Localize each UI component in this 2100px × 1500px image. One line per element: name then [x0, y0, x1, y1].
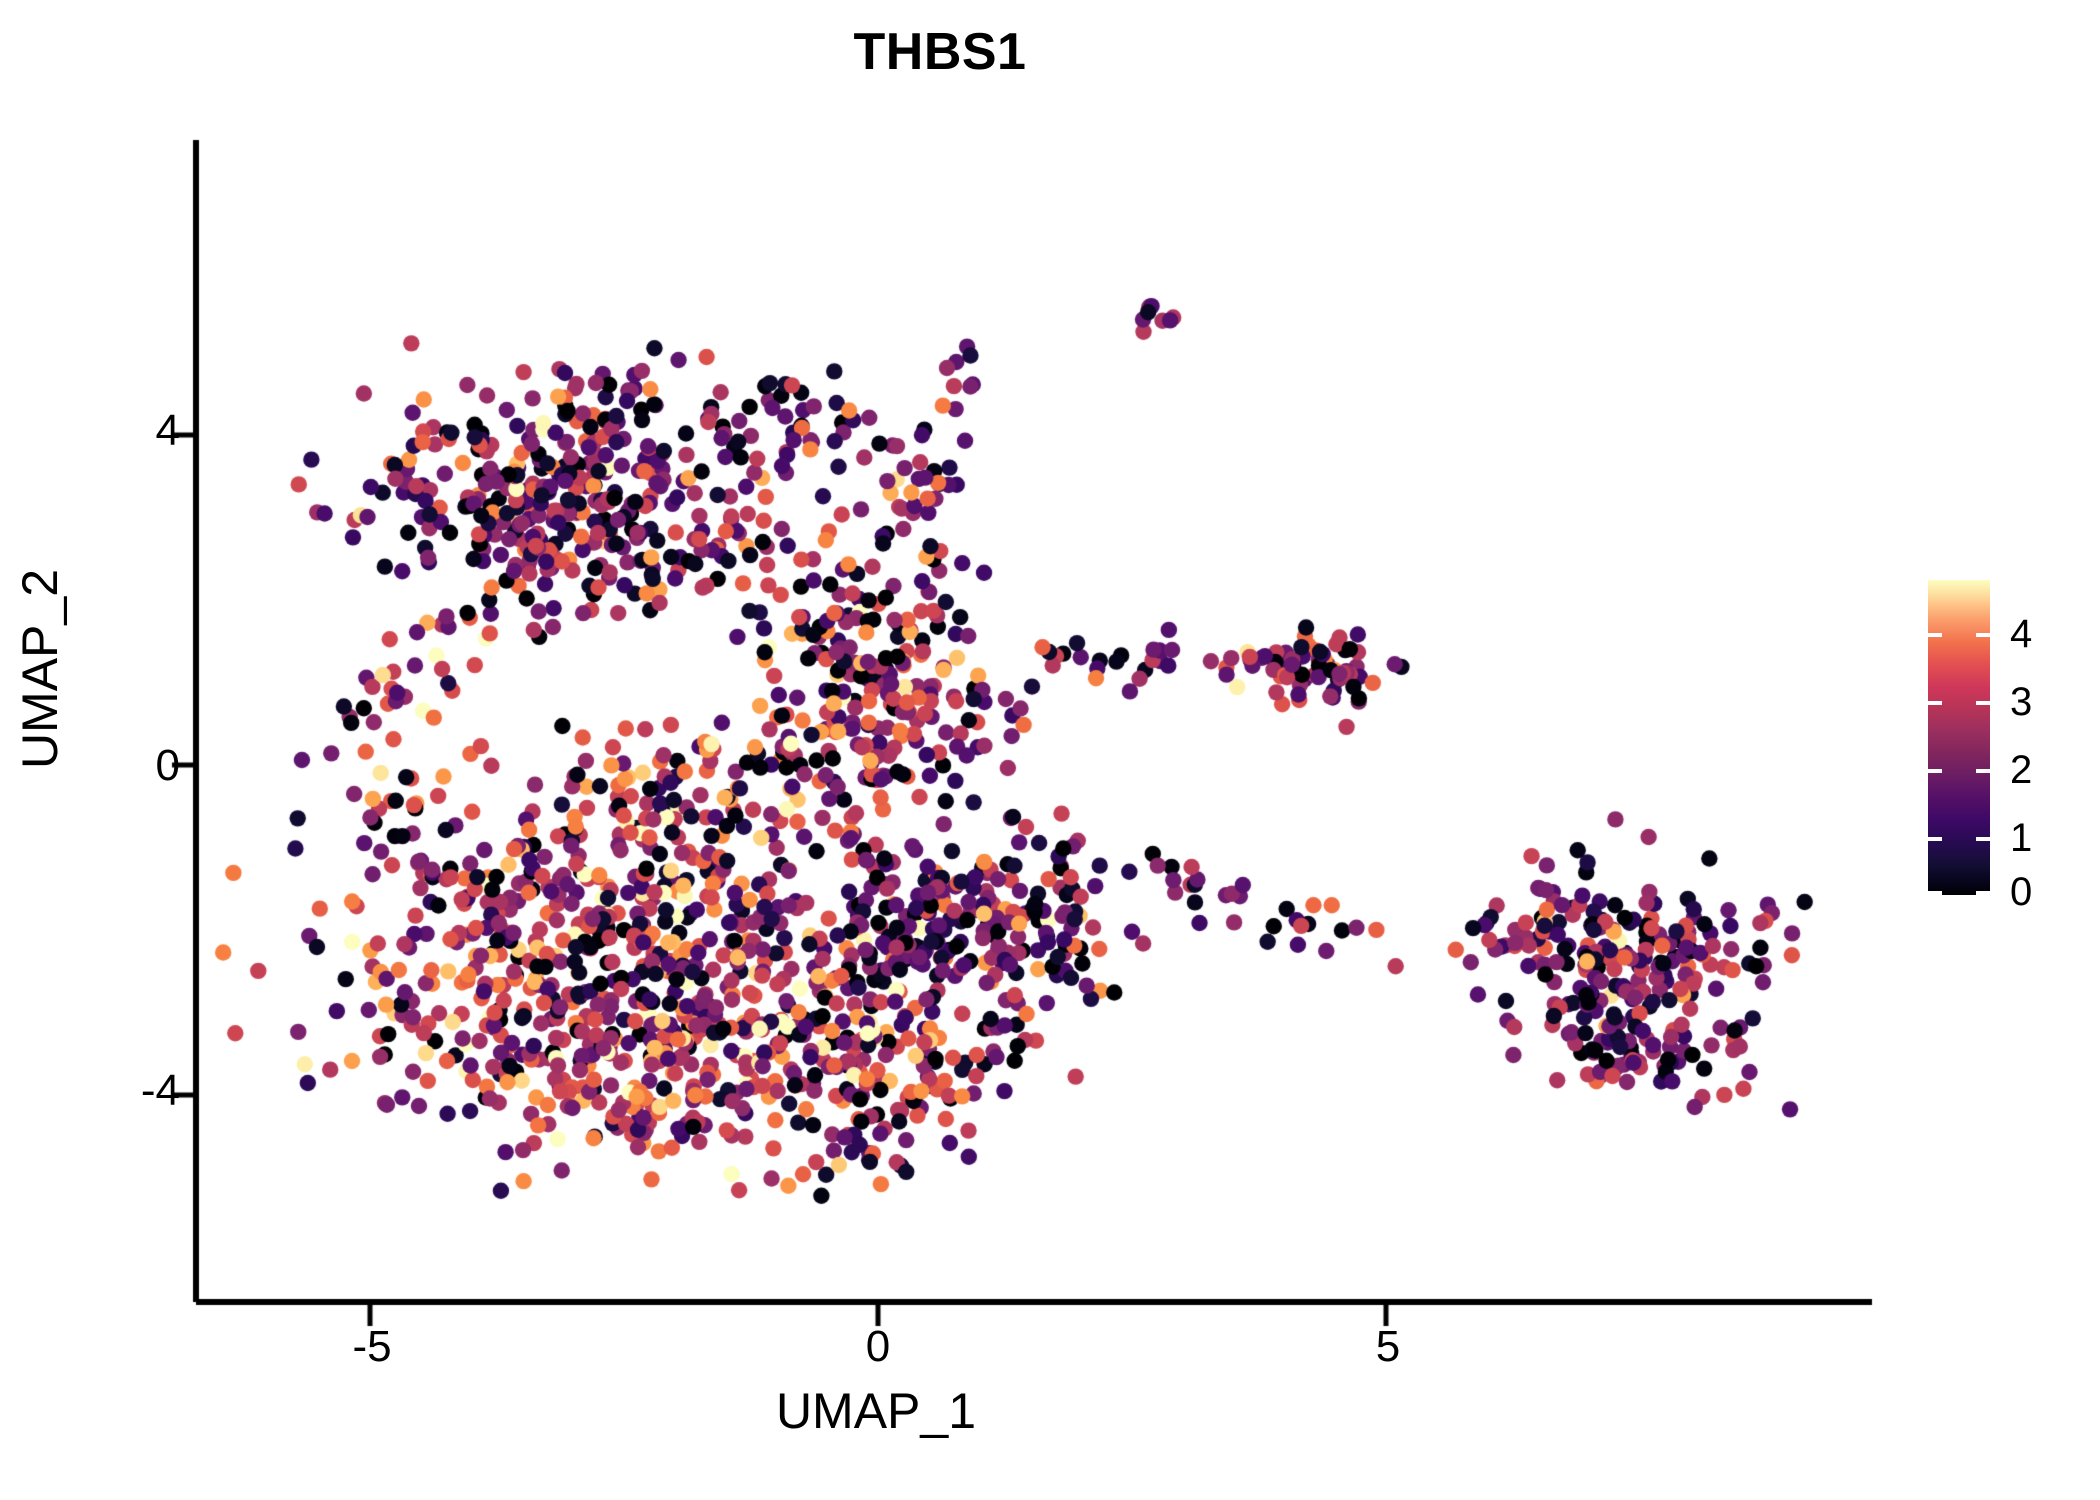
y-tick-label-0: 0	[90, 741, 180, 791]
colorbar-tick-3-left	[1928, 701, 1942, 705]
colorbar-tick-0-right	[1976, 891, 1990, 895]
umap-feature-plot: THBS1 UMAP_2 UMAP_1 4 0 -4 -5 0 5 4 3 2 …	[0, 0, 2100, 1500]
colorbar-label-0: 0	[2010, 870, 2090, 915]
x-axis-label: UMAP_1	[596, 1382, 1156, 1440]
colorbar-tick-3-right	[1976, 701, 1990, 705]
x-tick-label-minus5: -5	[312, 1322, 432, 1372]
x-tick-label-0: 0	[818, 1322, 938, 1372]
colorbar-tick-1-right	[1976, 837, 1990, 841]
colorbar-tick-1-left	[1928, 837, 1942, 841]
colorbar-label-4: 4	[2010, 612, 2090, 657]
y-tick-label-minus4: -4	[90, 1066, 180, 1116]
x-tick-label-5: 5	[1328, 1322, 1448, 1372]
colorbar-gradient	[1928, 580, 1990, 895]
colorbar-label-3: 3	[2010, 680, 2090, 725]
colorbar-tick-4-left	[1928, 633, 1942, 637]
colorbar-tick-2-left	[1928, 769, 1942, 773]
colorbar-label-1: 1	[2010, 816, 2090, 861]
colorbar-label-2: 2	[2010, 748, 2090, 793]
colorbar-tick-4-right	[1976, 633, 1990, 637]
y-tick-label-4: 4	[90, 406, 180, 456]
colorbar-tick-2-right	[1976, 769, 1990, 773]
colorbar-tick-0-left	[1928, 891, 1942, 895]
scatter-plot-canvas	[0, 0, 2100, 1500]
y-axis-label: UMAP_2	[11, 509, 69, 829]
